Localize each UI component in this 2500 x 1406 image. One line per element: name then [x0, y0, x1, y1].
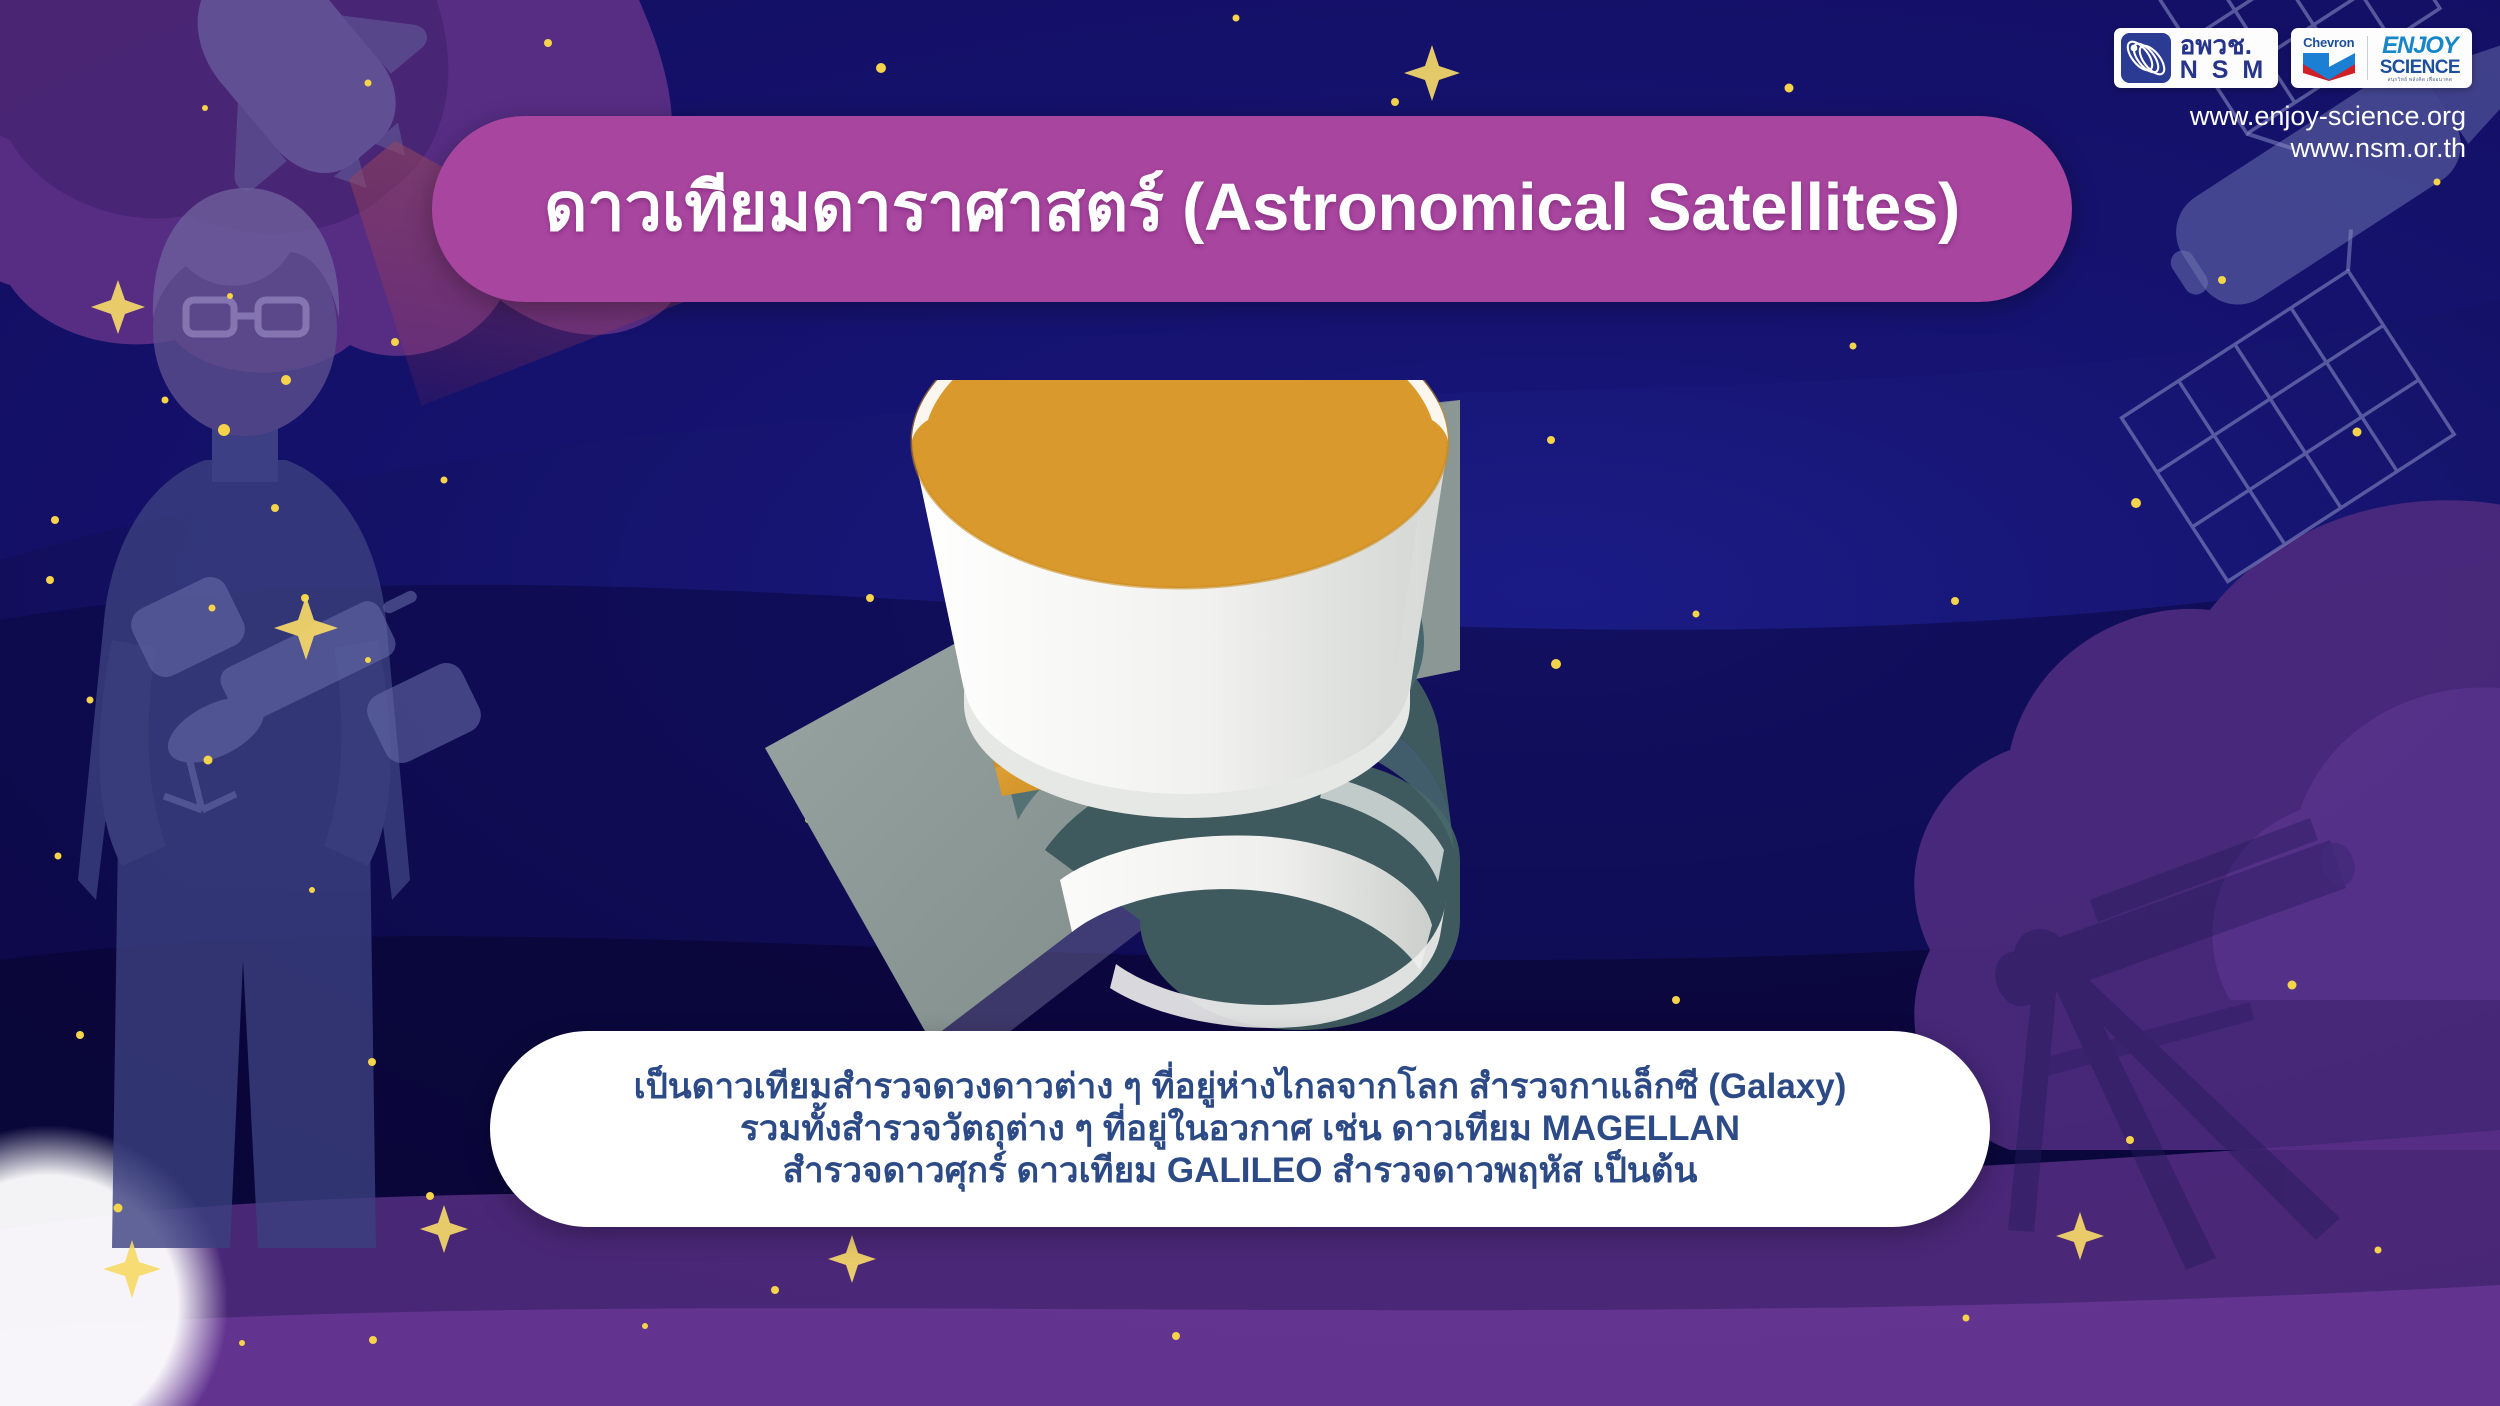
atom-orbital-icon [2121, 33, 2171, 83]
enjoy-science-tagline: สนุกวิทย์ พลังคิด เพื่ออนาคต [2388, 78, 2453, 83]
nsm-wordmark: อพวช. N S M [2180, 33, 2267, 83]
caption-line-1: เป็นดาวเทียมสำรวจดวงดาวต่าง ๆ ที่อยู่ห่า… [634, 1066, 1847, 1108]
chevron-logo: Chevron [2303, 35, 2355, 81]
url-secondary[interactable]: www.nsm.or.th [2190, 132, 2466, 164]
nsm-logo[interactable]: อพวช. N S M [2114, 28, 2278, 88]
caption-card: เป็นดาวเทียมสำรวจดวงดาวต่าง ๆ ที่อยู่ห่า… [490, 1031, 1990, 1227]
science-wordmark: SCIENCE [2380, 58, 2460, 77]
satellite-illustration [760, 380, 1660, 1060]
url-primary[interactable]: www.enjoy-science.org [2190, 100, 2466, 132]
website-urls: www.enjoy-science.org www.nsm.or.th [2190, 100, 2466, 165]
enjoy-wordmark: ENJOY [2382, 34, 2457, 58]
chevron-double-icon [2303, 51, 2355, 81]
chevron-wordmark: Chevron [2303, 35, 2354, 50]
enjoy-science-logo: ENJOY SCIENCE สนุกวิทย์ พลังคิด เพื่ออนา… [2380, 34, 2460, 83]
title-banner: ดาวเทียมดาราศาสตร์ (Astronomical Satelli… [432, 116, 2072, 302]
chevron-enjoy-science-logo[interactable]: Chevron ENJOY SCIENCE สนุกวิทย์ พลังคิด … [2291, 28, 2472, 88]
nebula-cloud-right [1914, 500, 2500, 1150]
logo-bar: อพวช. N S M Chevron ENJOY SCIENCE สนุกวิ… [2114, 28, 2472, 88]
logo-divider [2367, 36, 2368, 80]
infographic-canvas: ดาวเทียมดาราศาสตร์ (Astronomical Satelli… [0, 0, 2500, 1406]
nsm-roman-abbr: N S M [2180, 58, 2267, 83]
page-title: ดาวเทียมดาราศาสตร์ (Astronomical Satelli… [544, 174, 1960, 245]
nsm-thai-abbr: อพวช. [2180, 33, 2267, 58]
caption-line-3: สำรวจดาวศุกร์ ดาวเทียม GALILEO สำรวจดาวพ… [783, 1150, 1698, 1192]
caption-line-2: รวมทั้งสำรวจวัตถุต่าง ๆ ที่อยู่ในอวกาศ เ… [740, 1108, 1740, 1150]
